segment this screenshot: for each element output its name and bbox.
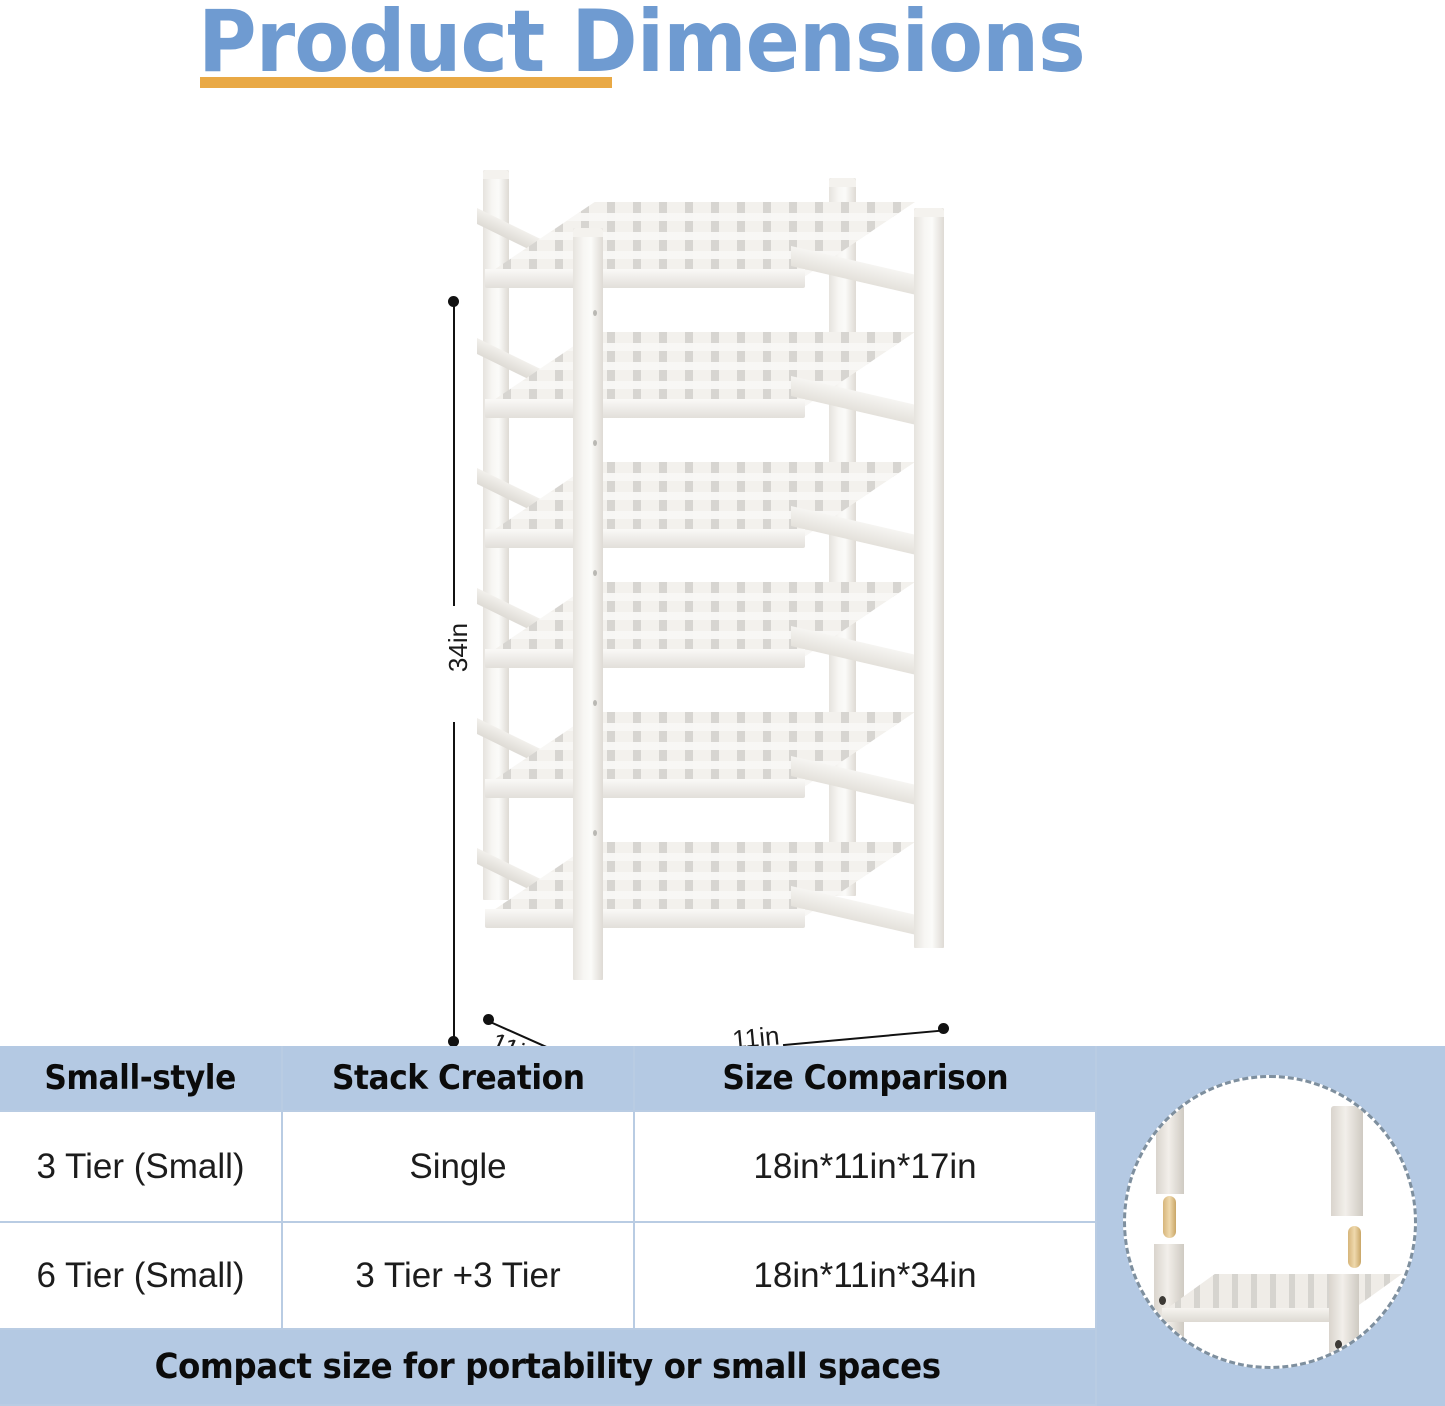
inset-post-lower-right — [1329, 1274, 1359, 1366]
table-row: 3 Tier +3 Tier — [283, 1223, 635, 1330]
inset-shelf-surface — [1162, 1274, 1402, 1312]
banner-label: Compact size for portability or small sp… — [154, 1347, 940, 1387]
table-row: 3 Tier (Small) — [0, 1112, 283, 1223]
cell-size-value: 18in*11in*34in — [753, 1256, 976, 1296]
specification-table: Small-style Stack Creation Size Comparis… — [0, 1046, 1445, 1406]
rack-post-front-right — [914, 208, 944, 948]
inset-post-upper-right — [1331, 1106, 1363, 1216]
table-header-label: Size Comparison — [722, 1058, 1008, 1098]
rack-post-front-left — [573, 228, 603, 980]
dimension-label-height: 34in — [443, 620, 474, 675]
shelf-tier-4 — [455, 582, 955, 678]
table-header-label: Stack Creation — [332, 1058, 585, 1098]
product-photo: 34in 11in 11in — [0, 110, 1445, 1030]
dimension-endpoint-dot — [483, 1014, 494, 1025]
table-row: Single — [283, 1112, 635, 1223]
shelf-rack-illustration — [455, 170, 955, 960]
shelf-tier-6 — [455, 842, 955, 938]
dimension-line-vertical-lower — [453, 722, 455, 1042]
shelf-connector-closeup — [1123, 1075, 1417, 1369]
table-row: 18in*11in*17in — [635, 1112, 1097, 1223]
cell-size-value: 18in*11in*17in — [753, 1147, 976, 1187]
dowel-pin-icon — [1348, 1226, 1361, 1268]
screw-icon — [593, 830, 597, 836]
cell-stack-value: Single — [409, 1147, 506, 1187]
inset-post-lower-left — [1154, 1244, 1184, 1344]
screw-icon — [593, 440, 597, 446]
inset-post-upper-left — [1156, 1096, 1184, 1194]
dimension-endpoint-dot — [938, 1023, 949, 1034]
table-footer-banner: Compact size for portability or small sp… — [0, 1330, 1097, 1406]
dowel-pin-icon — [1163, 1196, 1176, 1238]
shelf-tier-3 — [455, 462, 955, 558]
screw-icon — [593, 700, 597, 706]
shelf-tier-1 — [455, 202, 955, 298]
table-row: 18in*11in*34in — [635, 1223, 1097, 1330]
cell-style-value: 3 Tier (Small) — [36, 1147, 244, 1187]
table-header-small-style: Small-style — [0, 1046, 283, 1112]
page-header: Product Dimensions — [0, 0, 1445, 110]
dimension-line-vertical-upper — [453, 306, 455, 606]
table-header-stack-creation: Stack Creation — [283, 1046, 635, 1112]
dimension-endpoint-dot — [448, 296, 459, 307]
cell-stack-value: 3 Tier +3 Tier — [355, 1256, 560, 1296]
screw-icon — [593, 570, 597, 576]
table-header-size-comparison: Size Comparison — [635, 1046, 1097, 1112]
page-title: Product Dimensions — [198, 0, 1085, 92]
cell-style-value: 6 Tier (Small) — [36, 1256, 244, 1296]
screw-icon — [593, 310, 597, 316]
screw-icon — [1335, 1340, 1342, 1349]
table-header-label: Small-style — [45, 1058, 237, 1098]
inset-image-cell — [1097, 1046, 1445, 1406]
shelf-tier-2 — [455, 332, 955, 428]
inset-shelf-edge — [1162, 1308, 1352, 1322]
table-row: 6 Tier (Small) — [0, 1223, 283, 1330]
shelf-tier-5 — [455, 712, 955, 808]
screw-icon — [1159, 1296, 1166, 1305]
